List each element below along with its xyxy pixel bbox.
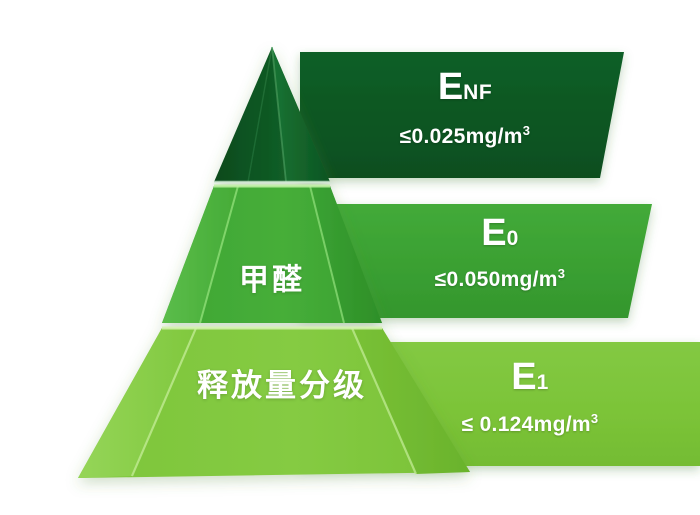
grade-sub-enf: NF [463,81,492,104]
pyramid-infographic: ENF ≤0.025mg/m3 E0 ≤0.050mg/m3 E1 ≤ 0.12… [0,0,700,515]
grade-main-e0: E [481,212,506,254]
limit-exponent-enf: 3 [523,123,531,138]
grade-label-e0: E0 [375,214,625,252]
limit-prefix-enf: ≤ [400,125,412,148]
grade-label-e1: E1 [405,358,655,396]
grade-sub-e0: 0 [507,227,519,250]
limit-label-e1: ≤ 0.124mg/m3 [405,412,655,435]
limit-unit-e0: mg/m [501,268,558,291]
grade-main-e1: E [511,356,536,398]
limit-unit-enf: mg/m [466,125,523,148]
pyramid-label-emission-grading: 释放量分级 [152,360,412,405]
limit-value-e1: 0.124 [480,413,534,436]
limit-unit-e1: mg/m [534,413,591,436]
grade-main-enf: E [438,66,463,108]
pyramid-label-formaldehyde: 甲醛 [172,255,372,299]
limit-value-enf: 0.025 [412,125,466,148]
limit-label-enf: ≤0.025mg/m3 [340,124,590,147]
limit-prefix-e0: ≤ [435,268,447,291]
limit-exponent-e1: 3 [591,411,599,426]
limit-prefix-e1: ≤ [462,413,474,436]
limit-exponent-e0: 3 [558,266,566,281]
limit-label-e0: ≤0.050mg/m3 [375,267,625,290]
grade-sub-e1: 1 [537,371,549,394]
limit-value-e0: 0.050 [447,268,501,291]
grade-label-enf: ENF [340,68,590,106]
